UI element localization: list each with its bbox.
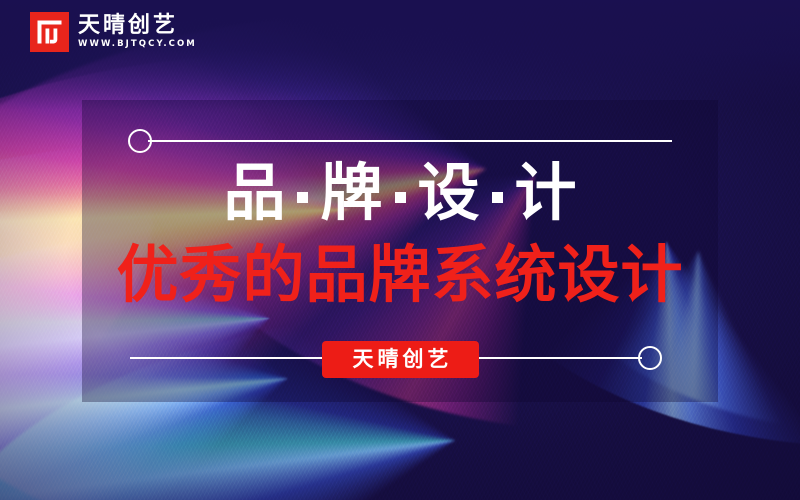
square-dot-separator-icon [297, 192, 308, 203]
decorative-rule-top [148, 140, 672, 142]
brand-logo[interactable]: 天晴创艺 WWW.BJTQCY.COM [30, 12, 197, 52]
headline-char: 品 [223, 162, 285, 224]
square-dot-separator-icon [492, 192, 503, 203]
brand-badge-label: 天晴创艺 [349, 349, 453, 370]
brand-name-cn: 天晴创艺 [78, 15, 197, 37]
square-dot-separator-icon [395, 192, 406, 203]
headline: 品 牌 设 计 [0, 162, 800, 224]
circle-outline-icon-bottom-right [638, 346, 662, 370]
brand-logo-text: 天晴创艺 WWW.BJTQCY.COM [78, 15, 197, 49]
headline-char: 设 [418, 162, 480, 224]
headline-char: 牌 [320, 162, 382, 224]
brand-badge[interactable]: 天晴创艺 [322, 341, 479, 378]
tianqing-monogram-icon [30, 12, 69, 52]
headline-char: 计 [515, 162, 577, 224]
banner-canvas: 天晴创艺 WWW.BJTQCY.COM 品 牌 设 计 优秀的品牌系统设计 天晴… [0, 0, 800, 500]
subheadline: 优秀的品牌系统设计 [0, 244, 800, 306]
brand-website: WWW.BJTQCY.COM [78, 40, 197, 49]
